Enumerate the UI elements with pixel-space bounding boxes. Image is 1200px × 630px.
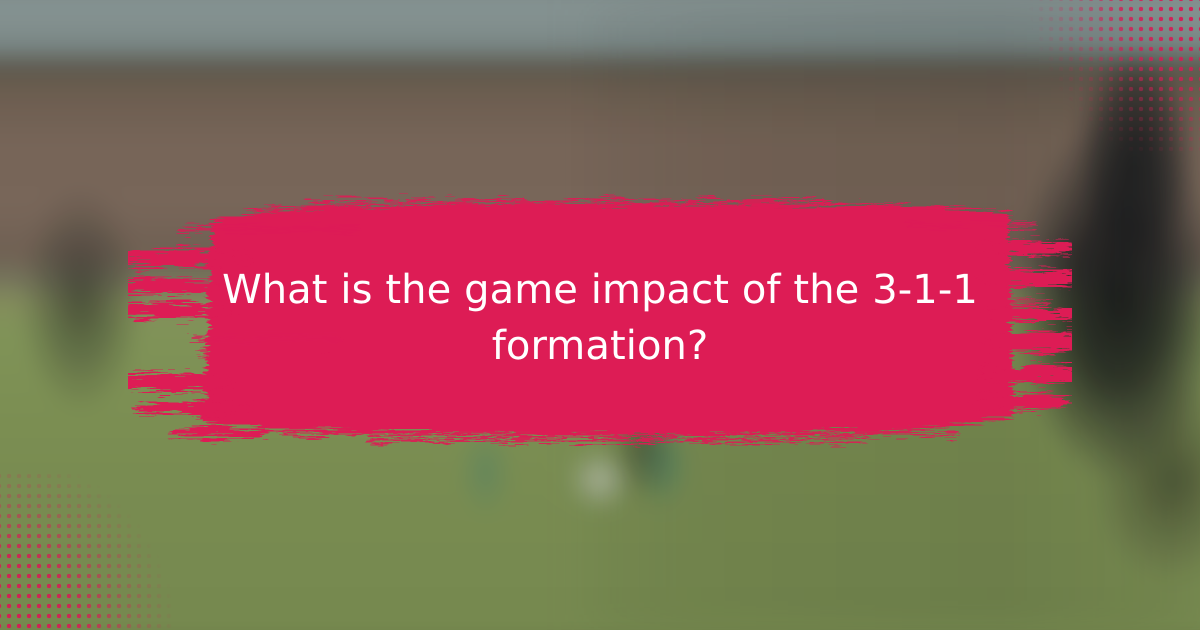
headline-line-2: formation? [200, 318, 1000, 374]
headline: What is the game impact of the 3-1-1 for… [200, 262, 1000, 374]
headline-line-1: What is the game impact of the 3-1-1 [200, 262, 1000, 318]
hero-card: What is the game impact of the 3-1-1 for… [0, 0, 1200, 630]
